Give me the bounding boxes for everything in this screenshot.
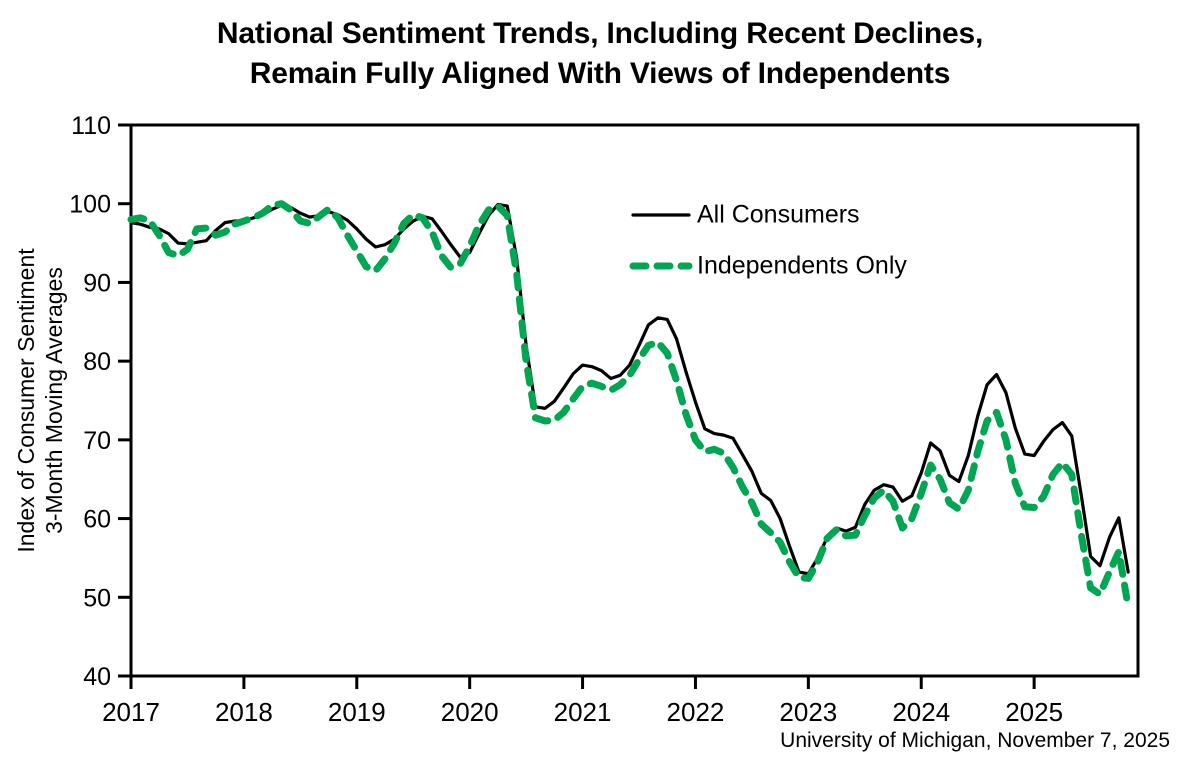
y-axis-tick-label: 60 [83,506,111,534]
x-axis-tick-label: 2025 [1005,697,1063,727]
y-axis-tick-label: 100 [69,191,111,219]
series-line-independents-only [131,204,1128,607]
y-axis-tick-label: 90 [83,269,111,297]
x-axis-tick-label: 2017 [102,697,160,727]
chart-plot-area: 4050607080901001102017201820192020202120… [0,0,1200,761]
source-note: University of Michigan, November 7, 2025 [780,729,1170,753]
legend-label-independents-only: Independents Only [697,252,907,280]
x-axis-tick-label: 2024 [892,697,950,727]
x-axis-tick-label: 2018 [215,697,273,727]
x-axis-tick-label: 2023 [779,697,837,727]
x-axis-tick-label: 2020 [441,697,499,727]
series-layer [131,204,1128,607]
x-axis-tick-label: 2021 [554,697,612,727]
legend-layer: All ConsumersIndependents Only [633,201,907,280]
y-axis-tick-label: 70 [83,427,111,455]
series-line-all-consumers [131,205,1128,574]
y-axis-title-line-2: 3-Month Moving Averages [41,267,67,534]
y-axis-tick-label: 110 [71,112,111,140]
x-axis-tick-label: 2022 [667,697,725,727]
legend-label-all-consumers: All Consumers [697,201,860,229]
y-axis-title-line-1: Index of Consumer Sentiment [13,248,39,553]
y-axis-tick-label: 50 [83,584,111,612]
axis-layer: 4050607080901001102017201820192020202120… [13,112,1138,727]
y-axis-tick-label: 80 [83,348,111,376]
chart-root: National Sentiment Trends, Including Rec… [0,0,1200,761]
x-axis-tick-label: 2019 [328,697,386,727]
y-axis-tick-label: 40 [83,663,111,691]
